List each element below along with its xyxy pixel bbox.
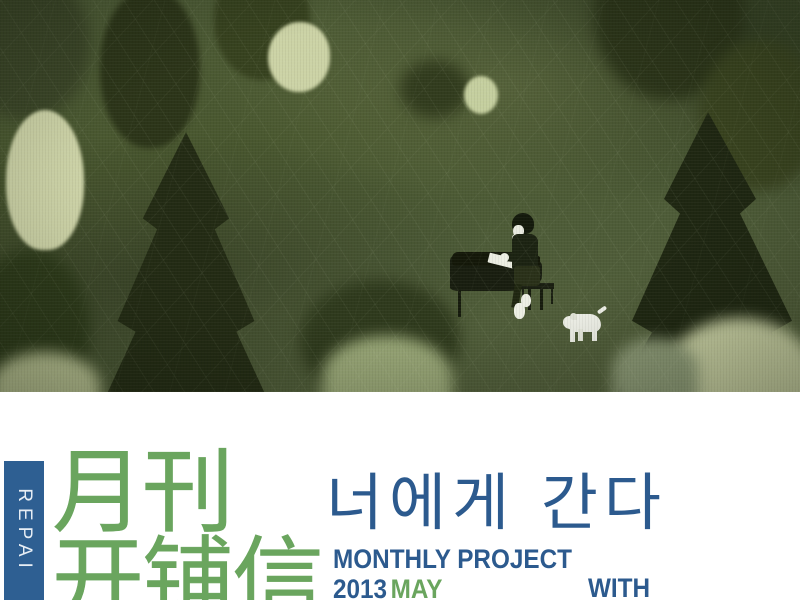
monthly-project-label: MONTHLY PROJECT	[333, 546, 572, 573]
masthead-cjk-line2: 开铺信	[52, 538, 322, 600]
spine-badge: REPAI	[4, 461, 44, 600]
masthead-cjk-line1: 月刊	[52, 450, 322, 536]
masthead-cjk: 月刊 开铺信	[52, 450, 322, 600]
issue-date: 2013MAY	[333, 576, 572, 600]
artwork-vignette	[0, 0, 800, 392]
artwork-image	[0, 0, 800, 392]
spine-label: REPAI	[13, 488, 35, 574]
issue-meta: MONTHLY PROJECT 2013MAY	[333, 546, 599, 600]
issue-month: MAY	[391, 574, 443, 600]
page-title-korean: 너에게 간다	[326, 452, 667, 542]
with-label: WITH	[588, 573, 650, 600]
issue-year: 2013	[333, 574, 387, 600]
poster-root: REPAI 月刊 开铺信 너에게 간다 MONTHLY PROJECT 2013…	[0, 0, 800, 600]
